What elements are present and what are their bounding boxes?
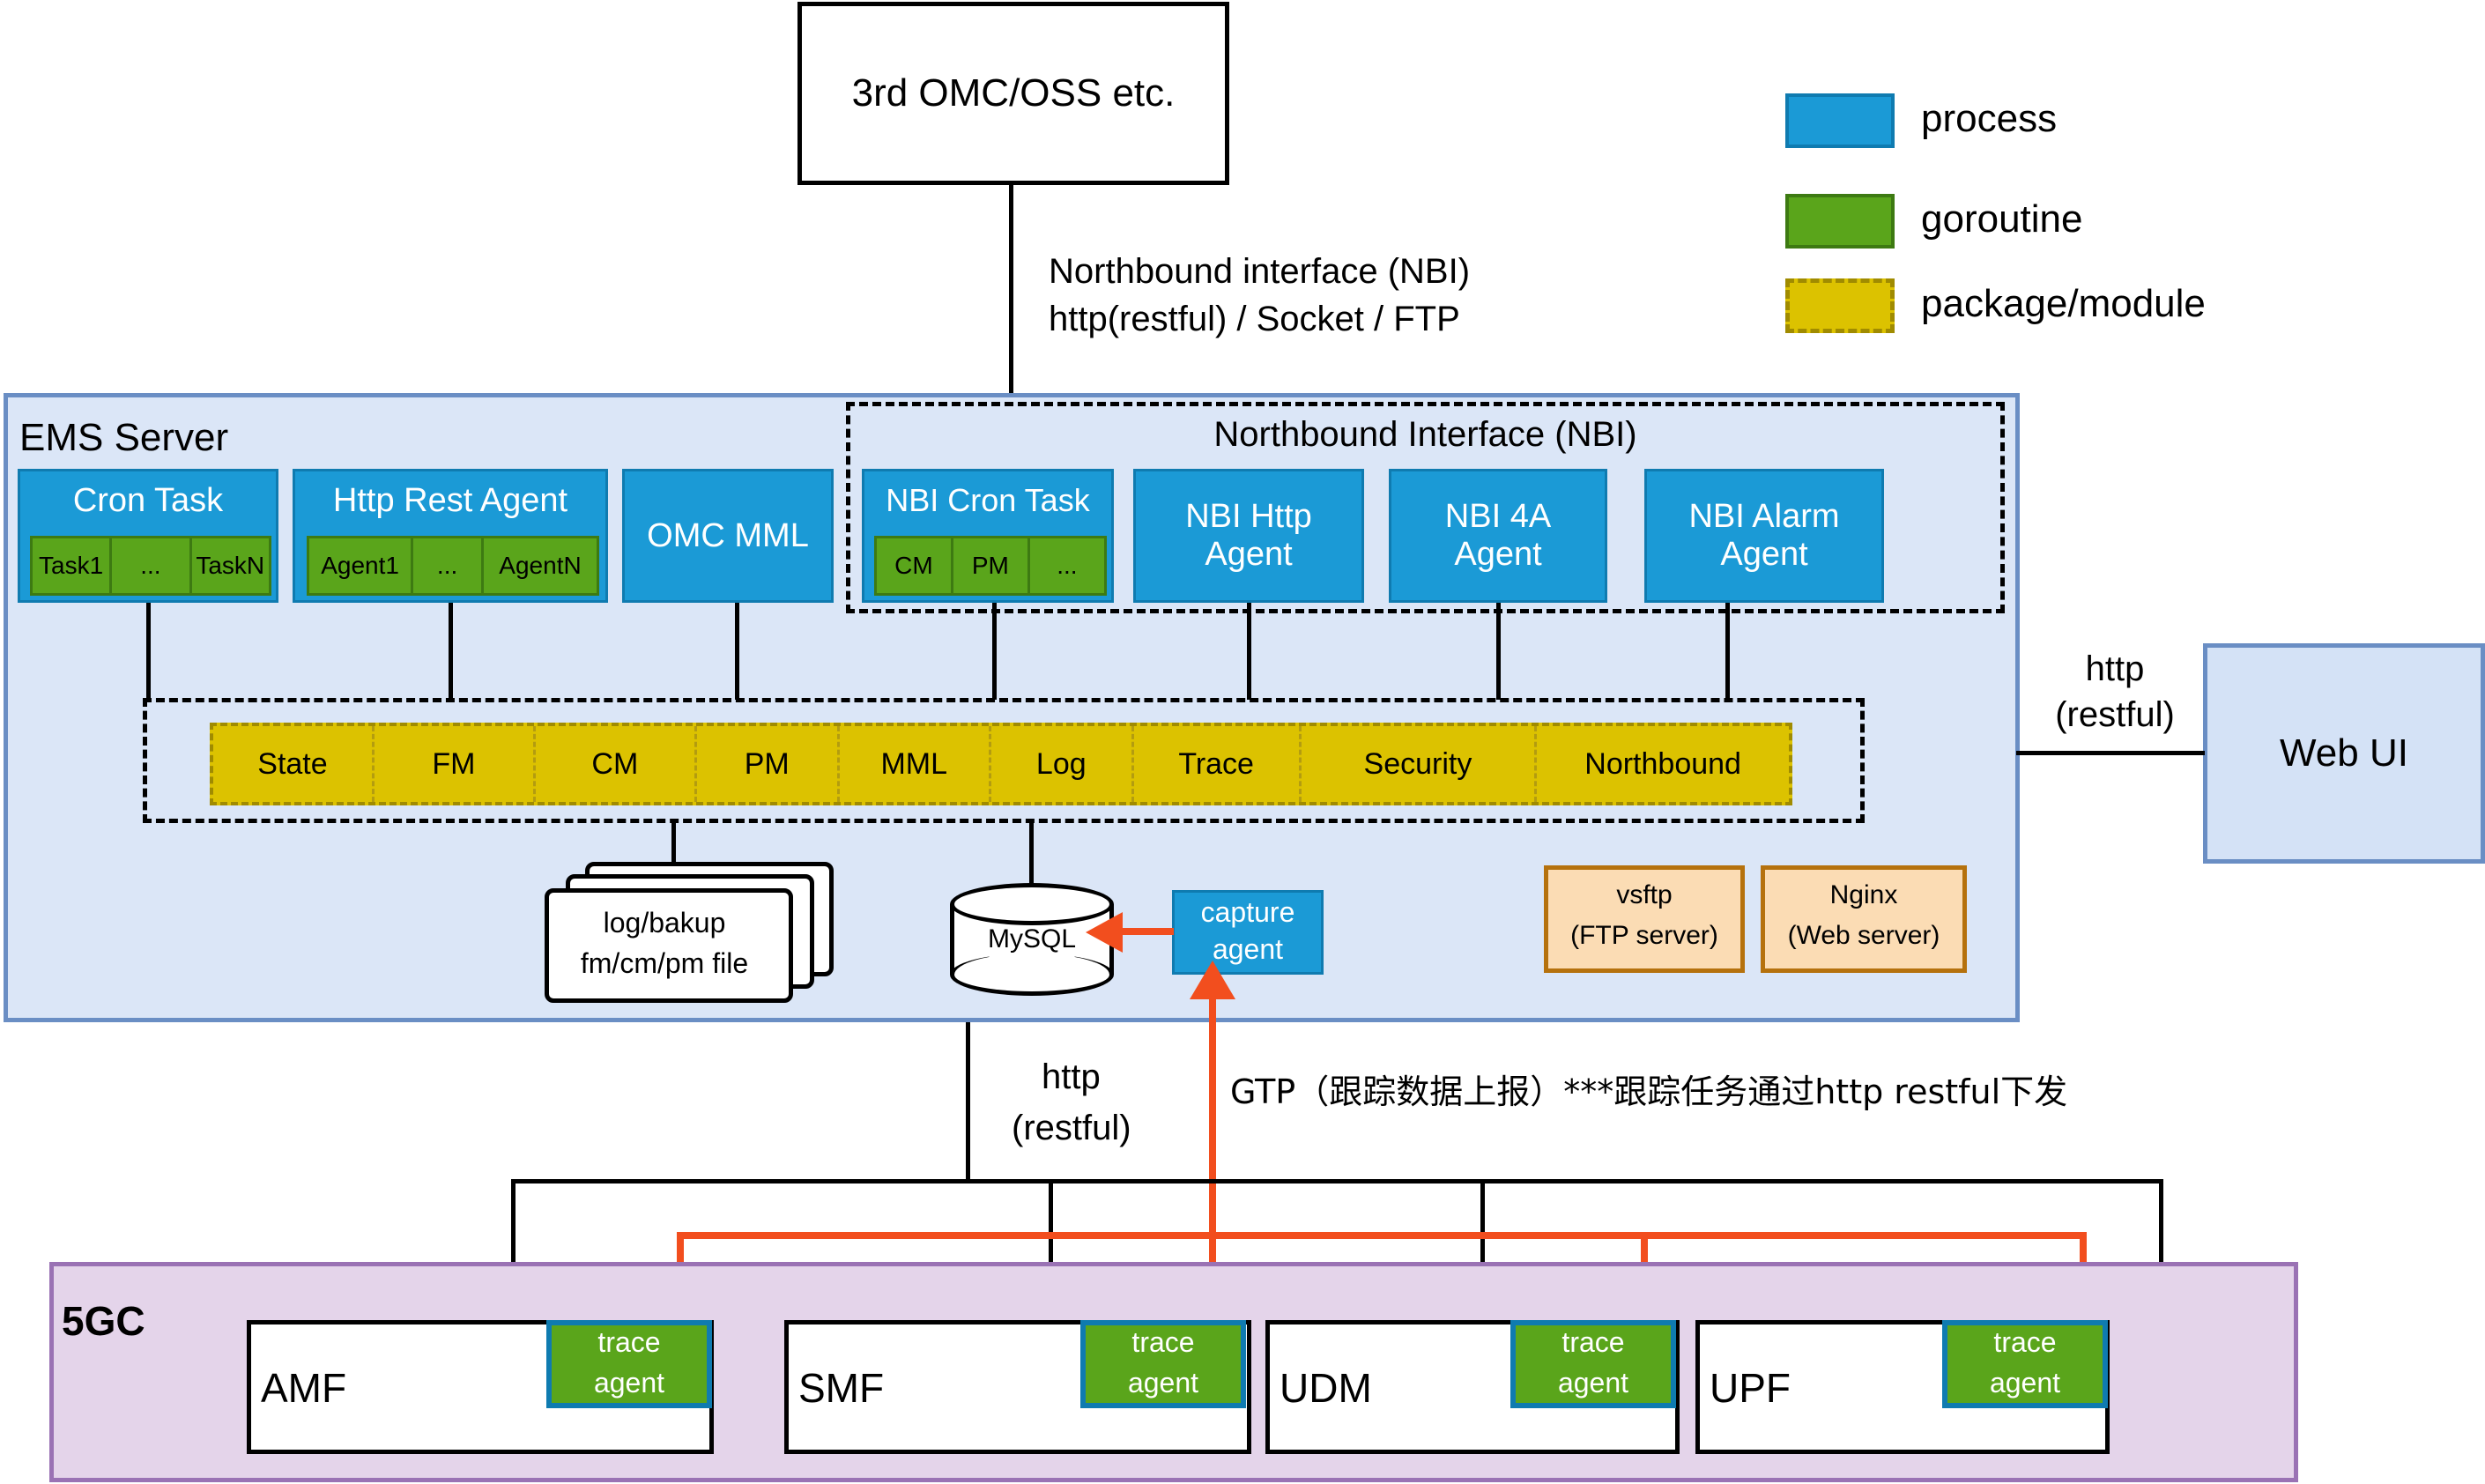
goroutine-strip-cron-task: Task1 ... TaskN [30, 536, 271, 596]
web-ui-label: Web UI [2203, 731, 2485, 775]
arrow-capture-to-mysql-shaft [1117, 928, 1174, 935]
module-pm[interactable]: PM [697, 726, 840, 802]
trace-agent-udm-label-line2: agent [1510, 1364, 1676, 1403]
goroutine-nbi-ellipsis[interactable]: ... [1030, 538, 1104, 593]
trace-agent-smf-label-line1: trace [1080, 1324, 1246, 1362]
arrow-capture-to-mysql-head [1086, 910, 1124, 954]
webui-link-label-line1: http [2027, 649, 2203, 689]
connector-nbi-4a-agent-to-modules [1496, 603, 1501, 700]
process-cron-task-label: Cron Task [18, 476, 278, 525]
module-cm[interactable]: CM [536, 726, 697, 802]
legend-label-goroutine: goroutine [1921, 197, 2082, 241]
gc-title: 5GC [62, 1297, 145, 1345]
goroutine-agent1[interactable]: Agent1 [309, 538, 413, 593]
connector-nbi-alarm-agent-to-modules [1725, 603, 1730, 700]
goroutine-agent-ellipsis[interactable]: ... [413, 538, 484, 593]
external-oss-box: 3rd OMC/OSS etc. [797, 2, 1229, 185]
goroutine-task-ellipsis[interactable]: ... [112, 538, 191, 593]
process-nbi-cron-task-label: NBI Cron Task [862, 476, 1114, 525]
trace-agent-udm-label-line1: trace [1510, 1324, 1676, 1362]
external-oss-label: 3rd OMC/OSS etc. [852, 71, 1176, 115]
module-mml[interactable]: MML [840, 726, 991, 802]
process-http-rest-agent-label: Http Rest Agent [293, 476, 608, 525]
webui-link-label-line2: (restful) [2027, 694, 2203, 735]
architecture-diagram: 3rd OMC/OSS etc. Northbound interface (N… [0, 0, 2485, 1484]
capture-agent-label-line1: capture [1172, 894, 1324, 932]
goroutine-strip-nbi-cron-task: CM PM ... [874, 536, 1107, 596]
trace-agent-upf-label-line2: agent [1942, 1364, 2108, 1403]
goroutine-task1[interactable]: Task1 [33, 538, 112, 593]
module-northbound[interactable]: Northbound [1537, 726, 1789, 802]
goroutine-taskn[interactable]: TaskN [192, 538, 270, 593]
module-security[interactable]: Security [1302, 726, 1538, 802]
connector-oss-to-ems [1009, 185, 1013, 395]
connector-omc-mml-to-modules [735, 603, 739, 700]
vsftp-label-line1: vsftp [1544, 876, 1745, 915]
nginx-label-line1: Nginx [1761, 876, 1967, 915]
nbi-group-title: Northbound Interface (NBI) [846, 411, 2005, 458]
legend-swatch-process [1785, 93, 1895, 148]
trace-agent-amf-label-line2: agent [546, 1364, 712, 1403]
goroutine-agentn[interactable]: AgentN [484, 538, 597, 593]
process-nbi-4a-agent[interactable]: NBI 4A Agent [1389, 469, 1607, 603]
file-stack-label-line1: log/bakup [545, 908, 784, 939]
module-trace[interactable]: Trace [1134, 726, 1302, 802]
connector-http-rest-agent-to-modules [449, 603, 453, 700]
file-sheet-front [545, 888, 793, 1003]
legend-swatch-goroutine [1785, 194, 1895, 249]
gtp-annotation: GTP（跟踪数据上报）***跟踪任务通过http restful下发 [1230, 1065, 2067, 1113]
goroutine-cm[interactable]: CM [877, 538, 953, 593]
goroutine-pm[interactable]: PM [953, 538, 1030, 593]
connector-ems-to-5gc-trunk [966, 1022, 970, 1183]
southbound-orange-bus [677, 1232, 2087, 1239]
southbound-black-bus [511, 1179, 2163, 1183]
south-http-label-line1: http [1042, 1057, 1101, 1097]
process-nbi-alarm-agent-label: NBI Alarm Agent [1647, 498, 1881, 573]
process-nbi-4a-agent-label: NBI 4A Agent [1391, 498, 1605, 573]
nginx-label-line2: (Web server) [1761, 916, 1967, 955]
module-state[interactable]: State [213, 726, 375, 802]
legend-label-process: process [1921, 97, 2057, 141]
process-omc-mml[interactable]: OMC MML [622, 469, 834, 603]
connector-cron-task-to-modules [146, 603, 151, 700]
process-omc-mml-label: OMC MML [647, 517, 809, 555]
goroutine-strip-http-rest-agent: Agent1 ... AgentN [307, 536, 599, 596]
module-strip: State FM CM PM MML Log Trace Security No… [210, 723, 1792, 805]
connector-capture-agent-trunk [1209, 987, 1216, 1235]
module-fm[interactable]: FM [375, 726, 536, 802]
legend-swatch-package-module [1785, 278, 1895, 333]
trace-agent-upf-label-line1: trace [1942, 1324, 2108, 1362]
connector-nbi-http-agent-to-modules [1247, 603, 1251, 700]
file-stack-label-line2: fm/cm/pm file [545, 948, 784, 980]
nf-label-amf: AMF [261, 1364, 346, 1412]
nf-label-udm: UDM [1280, 1364, 1372, 1412]
nf-label-upf: UPF [1710, 1364, 1791, 1412]
nf-label-smf: SMF [798, 1364, 884, 1412]
legend-label-package-module: package/module [1921, 282, 2206, 326]
connector-nbi-cron-task-to-modules [992, 603, 997, 700]
connector-ems-to-webui [2016, 751, 2205, 755]
process-nbi-alarm-agent[interactable]: NBI Alarm Agent [1644, 469, 1884, 603]
ems-server-title: EMS Server [19, 416, 228, 460]
process-nbi-http-agent-label: NBI Http Agent [1136, 498, 1361, 573]
trace-agent-amf-label-line1: trace [546, 1324, 712, 1362]
arrow-capture-agent-trunk-head [1188, 961, 1237, 1001]
south-http-label-line2: (restful) [1012, 1109, 1131, 1148]
process-nbi-http-agent[interactable]: NBI Http Agent [1133, 469, 1364, 603]
module-log[interactable]: Log [991, 726, 1134, 802]
vsftp-label-line2: (FTP server) [1544, 916, 1745, 955]
nbi-link-label-line2: http(restful) / Socket / FTP [1049, 300, 1460, 339]
trace-agent-smf-label-line2: agent [1080, 1364, 1246, 1403]
nbi-link-label-line1: Northbound interface (NBI) [1049, 252, 1470, 292]
